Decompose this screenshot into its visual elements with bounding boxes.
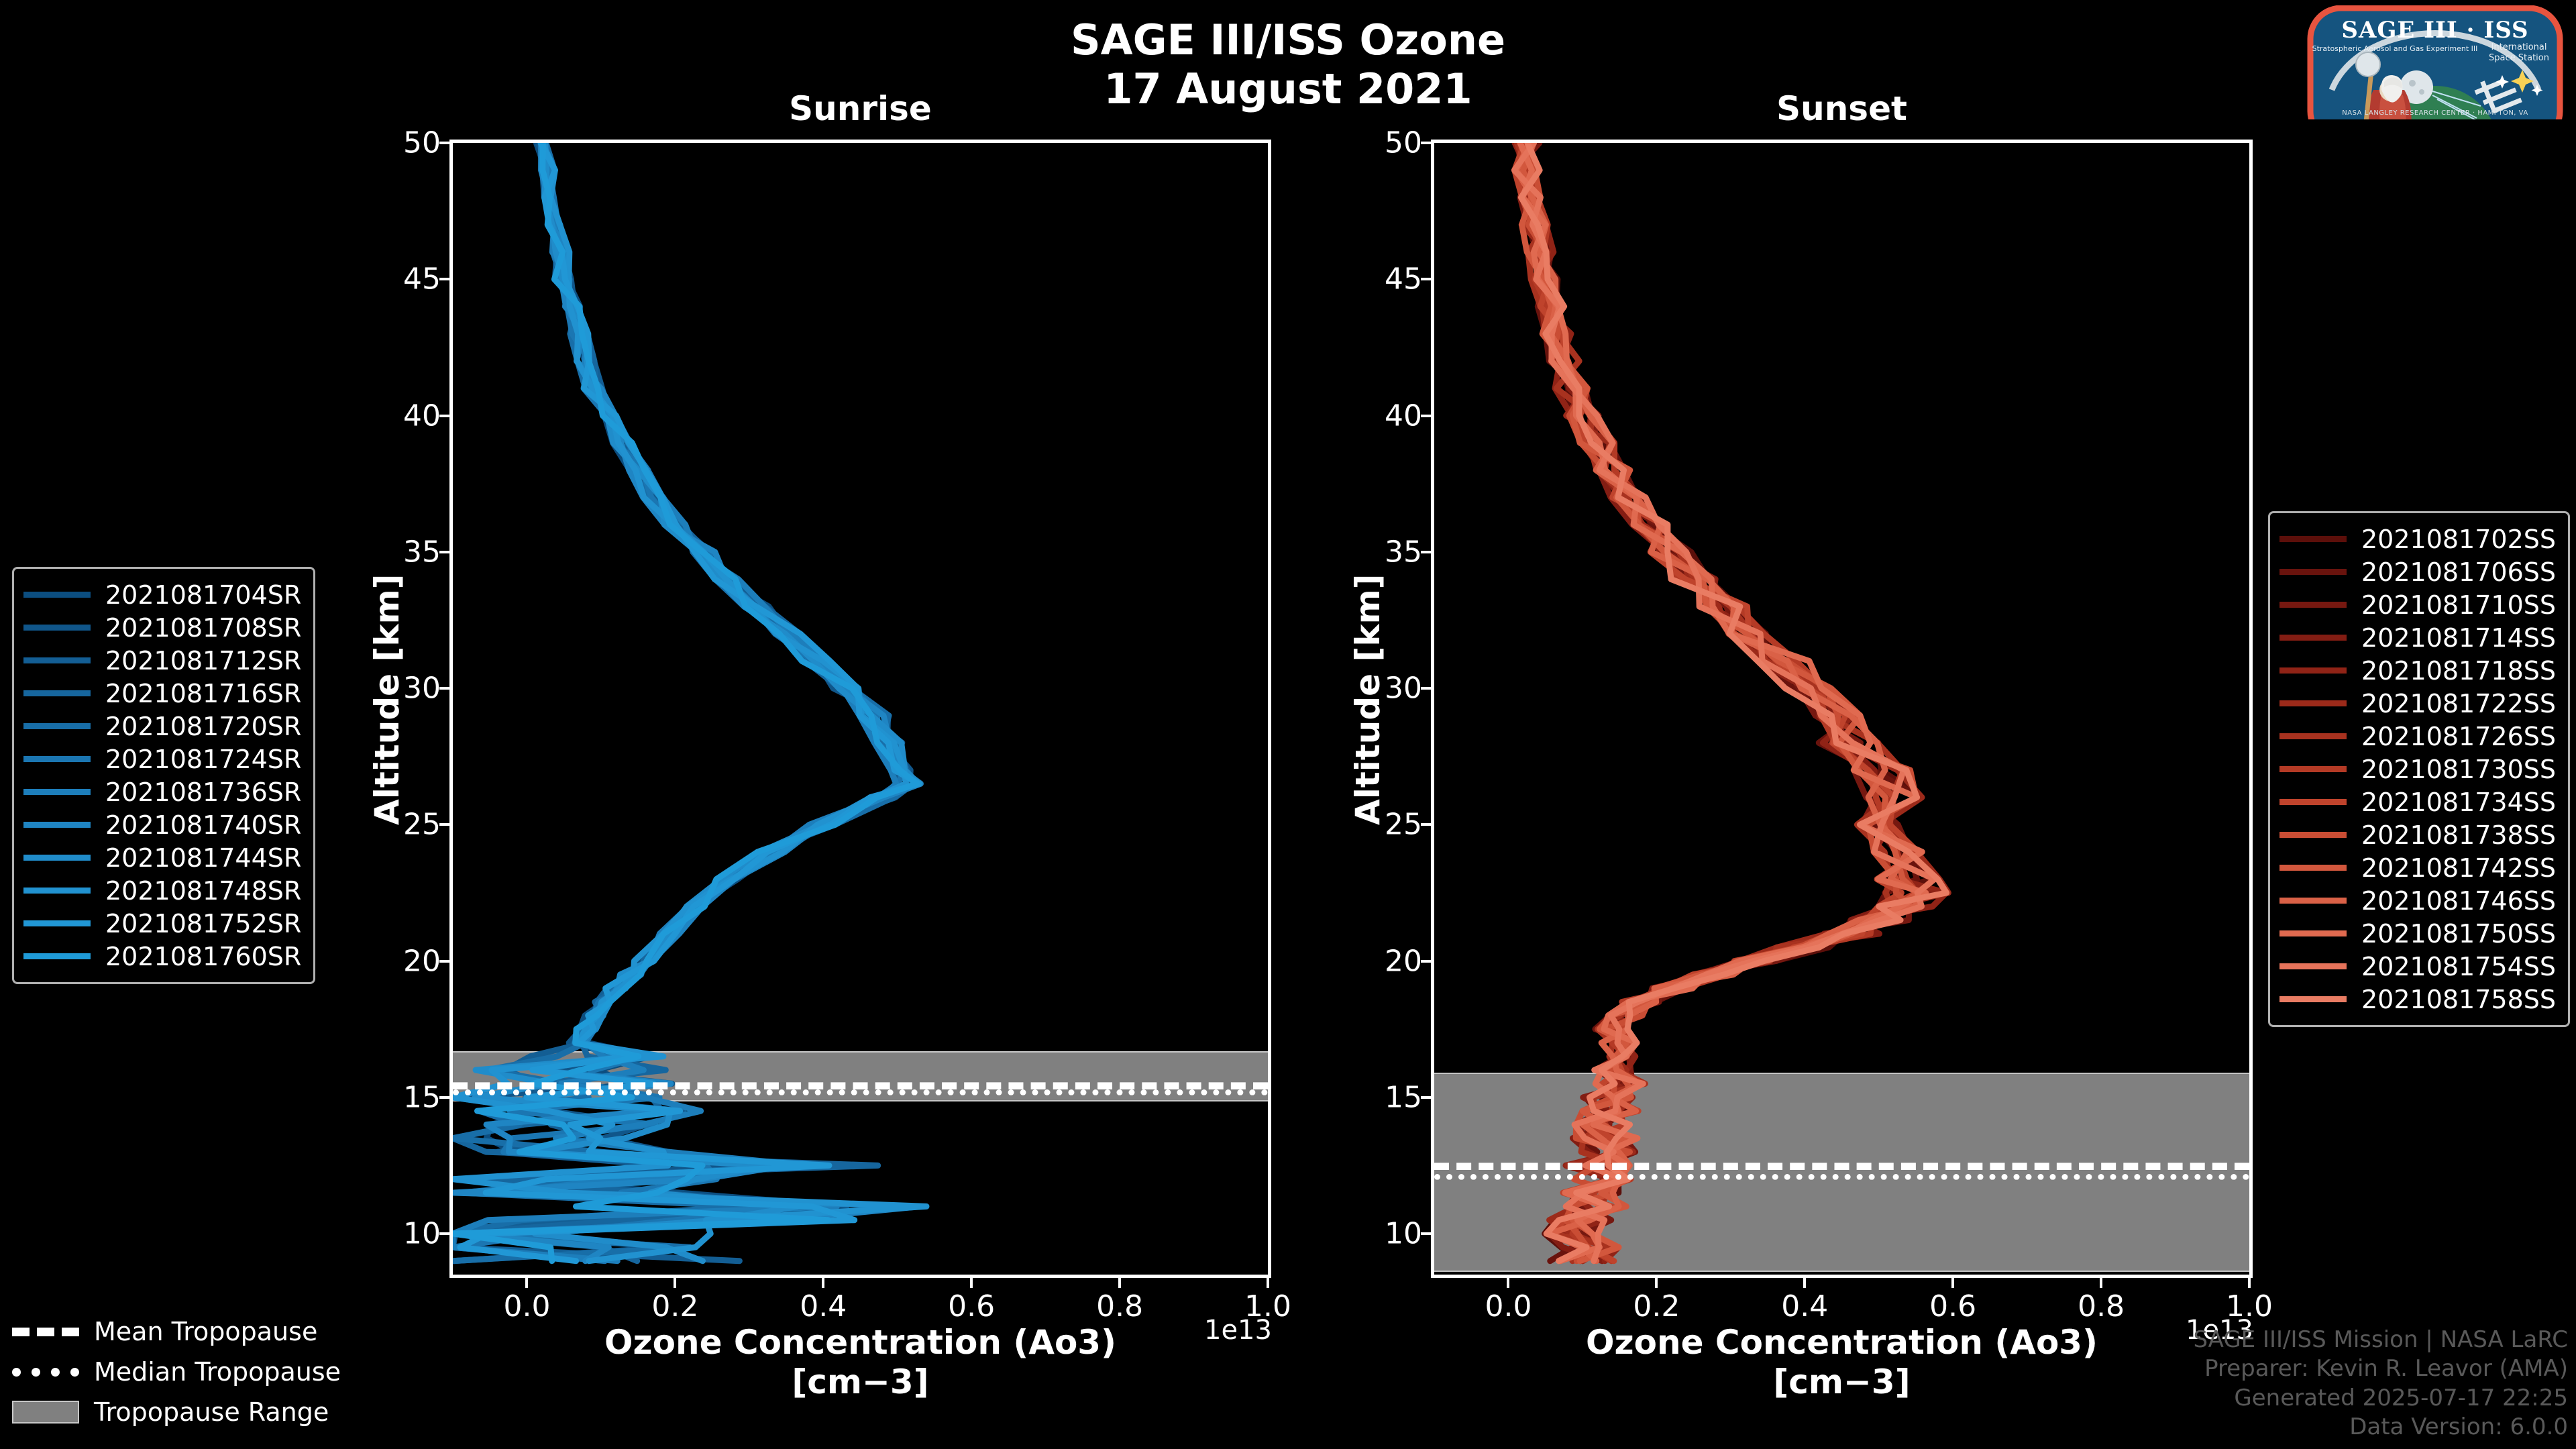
y-axis-tick-mark: [439, 278, 453, 280]
legend-item-label: 2021081758SS: [2361, 985, 2556, 1014]
legend-item-mean-tropopause: Mean Tropopause: [12, 1311, 341, 1352]
x-axis-tick-mark: [822, 1275, 824, 1288]
legend-item-label: 2021081702SS: [2361, 525, 2556, 554]
legend-label-median-tropopause: Median Tropopause: [94, 1357, 341, 1387]
profile-line: [1521, 143, 1947, 1261]
legend-item[interactable]: 2021081740SR: [23, 808, 301, 841]
legend-item[interactable]: 2021081710SS: [2279, 588, 2556, 621]
y-axis-tick-mark: [439, 415, 453, 417]
legend-item[interactable]: 2021081746SS: [2279, 884, 2556, 917]
legend-color-swatch-icon: [2279, 569, 2347, 575]
x-axis-tick-mark: [2100, 1275, 2102, 1288]
legend-item-label: 2021081710SS: [2361, 590, 2556, 620]
legend-item[interactable]: 2021081738SS: [2279, 818, 2556, 851]
profile-line: [1528, 143, 1916, 1261]
y-axis-tick-mark: [439, 1096, 453, 1099]
mission-patch-subtitle-left: Stratospheric Aerosol and Gas Experiment…: [2312, 44, 2478, 53]
y-axis-tick-mark: [1421, 1096, 1434, 1099]
legend-item[interactable]: 2021081720SR: [23, 710, 301, 743]
legend-item-label: 2021081754SS: [2361, 952, 2556, 981]
legend-color-swatch-icon: [23, 920, 91, 926]
x-axis-tick-mark: [1803, 1275, 1806, 1288]
legend-item[interactable]: 2021081730SS: [2279, 753, 2556, 786]
legend-item-label: 2021081740SR: [105, 810, 301, 840]
sunrise-x-axis-label: Ozone Concentration (Ao3) [cm−3]: [449, 1323, 1271, 1402]
legend-item-median-tropopause: Median Tropopause: [12, 1352, 341, 1392]
legend-color-swatch-icon: [23, 822, 91, 828]
sunrise-plot-axes: 1015202530354045500.00.20.40.60.81.0: [449, 140, 1271, 1278]
profile-line: [1518, 143, 1948, 1261]
legend-color-swatch-icon: [23, 657, 91, 663]
legend-item-label: 2021081736SR: [105, 777, 301, 807]
legend-item[interactable]: 2021081752SR: [23, 907, 301, 940]
legend-color-swatch-icon: [2279, 733, 2347, 739]
legend-item-label: 2021081746SS: [2361, 886, 2556, 916]
legend-item-label: 2021081720SR: [105, 712, 301, 741]
credits-line-preparer: Preparer: Kevin R. Leavor (AMA): [2193, 1354, 2568, 1384]
sunrise-panel-title: Sunrise: [449, 89, 1271, 128]
y-axis-tick-mark: [439, 687, 453, 690]
legend-item-label: 2021081722SS: [2361, 689, 2556, 718]
legend-color-swatch-icon: [2279, 898, 2347, 904]
y-axis-tick-mark: [439, 823, 453, 826]
sunset-x-axis-label: Ozone Concentration (Ao3) [cm−3]: [1431, 1323, 2253, 1402]
legend-item[interactable]: 2021081716SR: [23, 677, 301, 710]
legend-color-swatch-icon: [2279, 930, 2347, 936]
legend-item-label: 2021081718SS: [2361, 656, 2556, 686]
legend-item[interactable]: 2021081736SR: [23, 775, 301, 808]
legend-color-swatch-icon: [2279, 865, 2347, 871]
profile-line: [1517, 143, 1919, 1261]
profile-line: [1520, 143, 1926, 1261]
sunset-plot-axes: 1015202530354045500.00.20.40.60.81.0: [1431, 140, 2253, 1278]
legend-color-swatch-icon: [2279, 832, 2347, 838]
y-axis-tick-mark: [439, 551, 453, 553]
sunrise-x-axis-units: [cm−3]: [449, 1362, 1271, 1402]
legend-color-swatch-icon: [23, 625, 91, 631]
mean-tropopause-line: [1434, 1163, 2249, 1170]
x-axis-tick-mark: [1118, 1275, 1121, 1288]
mission-patch-subtitle-right-line1: International: [2491, 42, 2547, 52]
profile-line: [1517, 143, 1931, 1261]
profile-line: [1515, 143, 1918, 1261]
sage-iii-iss-mission-patch-logo: SAGE III · ISS Stratospheric Aerosol and…: [2301, 5, 2569, 119]
x-axis-tick-mark: [525, 1275, 528, 1288]
legend-item-label: 2021081734SS: [2361, 788, 2556, 817]
x-axis-tick-mark: [1267, 1275, 1269, 1288]
sunrise-profile-curves: [453, 143, 1268, 1275]
legend-color-swatch-icon: [2279, 667, 2347, 674]
credits-line-mission: SAGE III/ISS Mission | NASA LaRC: [2193, 1326, 2568, 1355]
legend-item-label: 2021081748SR: [105, 876, 301, 906]
legend-item[interactable]: 2021081726SS: [2279, 720, 2556, 753]
mission-patch-title: SAGE III · ISS: [2341, 17, 2528, 44]
legend-item-label: 2021081714SS: [2361, 623, 2556, 653]
x-axis-tick-mark: [2248, 1275, 2251, 1288]
legend-color-swatch-icon: [2279, 602, 2347, 608]
y-axis-tick-mark: [1421, 142, 1434, 144]
legend-item-label: 2021081708SR: [105, 613, 301, 643]
credits-block: SAGE III/ISS Mission | NASA LaRC Prepare…: [2193, 1326, 2568, 1442]
legend-color-swatch-icon: [2279, 766, 2347, 772]
legend-item-label: 2021081738SS: [2361, 820, 2556, 850]
sunrise-y-axis-label: Altitude [km]: [368, 574, 407, 825]
y-axis-tick-mark: [439, 142, 453, 144]
mean-tropopause-line: [453, 1082, 1268, 1089]
legend-color-swatch-icon: [2279, 996, 2347, 1002]
legend-color-swatch-icon: [2279, 963, 2347, 969]
legend-item-label: 2021081724SR: [105, 745, 301, 774]
sunrise-x-axis-offset: 1e13: [1204, 1315, 1272, 1346]
filled-band-icon: [12, 1401, 79, 1424]
mission-patch-footer: NASA LANGLEY RESEARCH CENTER · HAMPTON, …: [2342, 109, 2528, 117]
y-axis-tick-mark: [1421, 551, 1434, 553]
credits-line-generated: Generated 2025-07-17 22:25: [2193, 1384, 2568, 1413]
sunset-x-axis-label-text: Ozone Concentration (Ao3): [1586, 1323, 2098, 1362]
y-axis-tick-mark: [1421, 960, 1434, 963]
sunset-series-legend: 2021081702SS2021081706SS2021081710SS2021…: [2268, 511, 2570, 1027]
legend-item[interactable]: 2021081754SS: [2279, 950, 2556, 983]
y-axis-tick-mark: [1421, 687, 1434, 690]
legend-item-label: 2021081742SS: [2361, 853, 2556, 883]
legend-color-swatch-icon: [23, 723, 91, 729]
legend-color-swatch-icon: [23, 888, 91, 894]
dotted-line-icon: [12, 1368, 79, 1377]
sunset-x-axis-units: [cm−3]: [1431, 1362, 2253, 1402]
credits-line-data-version: Data Version: 6.0.0: [2193, 1413, 2568, 1442]
legend-item[interactable]: 2021081706SS: [2279, 555, 2556, 588]
legend-item[interactable]: 2021081724SR: [23, 743, 301, 775]
sunset-panel-title: Sunset: [1431, 89, 2253, 128]
profile-line: [1515, 143, 1931, 1261]
legend-item-tropopause-range: Tropopause Range: [12, 1392, 341, 1432]
legend-item[interactable]: 2021081714SS: [2279, 621, 2556, 654]
profile-line: [1519, 143, 1917, 1261]
legend-color-swatch-icon: [23, 855, 91, 861]
profile-line: [1514, 143, 1934, 1261]
sunrise-x-axis-label-text: Ozone Concentration (Ao3): [604, 1323, 1116, 1362]
legend-item[interactable]: 2021081722SS: [2279, 687, 2556, 720]
tropopause-legend: Mean Tropopause Median Tropopause Tropop…: [12, 1311, 341, 1432]
y-axis-tick-mark: [1421, 1232, 1434, 1235]
sunset-profile-curves: [1434, 143, 2249, 1275]
dashed-line-icon: [12, 1328, 79, 1336]
x-axis-tick-mark: [970, 1275, 973, 1288]
legend-item[interactable]: 2021081760SR: [23, 940, 301, 973]
y-axis-tick-mark: [1421, 823, 1434, 826]
legend-item-label: 2021081704SR: [105, 580, 301, 610]
legend-item[interactable]: 2021081758SS: [2279, 983, 2556, 1016]
legend-item[interactable]: 2021081702SS: [2279, 523, 2556, 555]
legend-item-label: 2021081760SR: [105, 942, 301, 971]
x-axis-tick-mark: [1951, 1275, 1954, 1288]
profile-line: [1515, 143, 1946, 1261]
legend-item-label: 2021081712SR: [105, 646, 301, 676]
y-axis-tick-mark: [1421, 278, 1434, 280]
legend-color-swatch-icon: [23, 953, 91, 959]
legend-item[interactable]: 2021081744SR: [23, 841, 301, 874]
y-axis-tick-mark: [439, 1232, 453, 1235]
y-axis-tick-mark: [1421, 415, 1434, 417]
legend-color-swatch-icon: [2279, 635, 2347, 641]
page-title: SAGE III/ISS Ozone: [0, 15, 2576, 66]
legend-color-swatch-icon: [2279, 799, 2347, 805]
median-tropopause-line: [453, 1089, 1268, 1095]
profile-line: [1517, 143, 1919, 1261]
legend-color-swatch-icon: [23, 690, 91, 696]
legend-color-swatch-icon: [23, 592, 91, 598]
x-axis-tick-mark: [674, 1275, 676, 1288]
legend-item-label: 2021081750SS: [2361, 919, 2556, 949]
legend-item[interactable]: 2021081704SR: [23, 578, 301, 611]
legend-label-mean-tropopause: Mean Tropopause: [94, 1317, 317, 1346]
legend-item[interactable]: 2021081734SS: [2279, 786, 2556, 818]
legend-label-tropopause-range: Tropopause Range: [94, 1397, 329, 1427]
median-tropopause-line: [1434, 1174, 2249, 1180]
sunrise-series-legend: 2021081704SR2021081708SR2021081712SR2021…: [12, 567, 315, 984]
legend-color-swatch-icon: [23, 756, 91, 762]
mission-patch-subtitle-right-line2: Space Station: [2489, 53, 2549, 63]
legend-item[interactable]: 2021081718SS: [2279, 654, 2556, 687]
x-axis-tick-mark: [1507, 1275, 1509, 1288]
legend-color-swatch-icon: [23, 789, 91, 795]
legend-item-label: 2021081726SS: [2361, 722, 2556, 751]
legend-item-label: 2021081744SR: [105, 843, 301, 873]
legend-item[interactable]: 2021081748SR: [23, 874, 301, 907]
sunset-y-axis-label: Altitude [km]: [1348, 574, 1387, 825]
legend-item-label: 2021081706SS: [2361, 557, 2556, 587]
legend-color-swatch-icon: [2279, 536, 2347, 542]
legend-item-label: 2021081716SR: [105, 679, 301, 708]
legend-color-swatch-icon: [2279, 700, 2347, 706]
y-axis-tick-mark: [439, 960, 453, 963]
legend-item[interactable]: 2021081750SS: [2279, 917, 2556, 950]
profile-line: [1522, 143, 1919, 1261]
legend-item[interactable]: 2021081712SR: [23, 644, 301, 677]
legend-item-label: 2021081730SS: [2361, 755, 2556, 784]
x-axis-tick-mark: [1655, 1275, 1658, 1288]
legend-item-label: 2021081752SR: [105, 909, 301, 938]
legend-item[interactable]: 2021081708SR: [23, 611, 301, 644]
profile-line: [1517, 143, 1932, 1261]
legend-item[interactable]: 2021081742SS: [2279, 851, 2556, 884]
